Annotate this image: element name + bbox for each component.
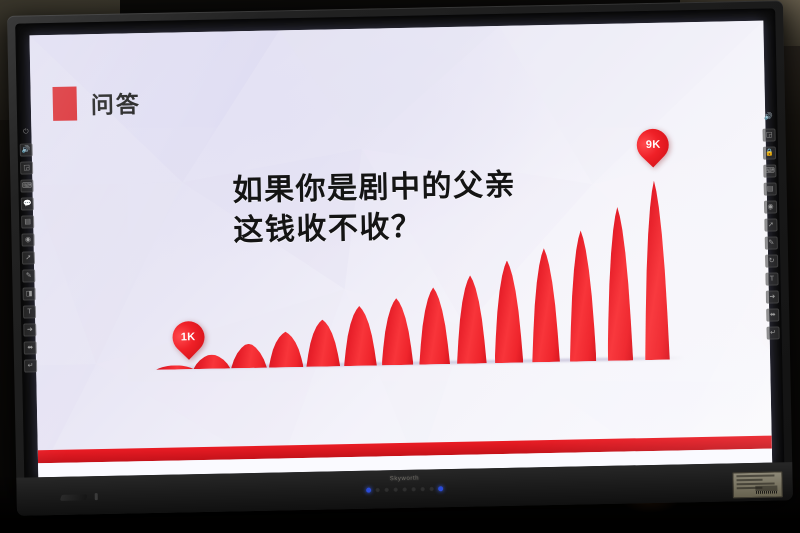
spike-chart: 1K9K [152, 175, 676, 370]
power-icon[interactable]: ⏻ [19, 125, 32, 138]
window-icon[interactable]: ▤ [21, 215, 34, 228]
refresh-icon[interactable]: ↻ [765, 254, 778, 267]
window-icon[interactable]: ▤ [764, 182, 777, 195]
chin-button[interactable] [393, 487, 398, 492]
chart-spike [268, 331, 304, 367]
chin-button[interactable] [411, 487, 416, 492]
interactive-display: 问答 如果你是剧中的父亲 这钱收不收？ 1K9K ⏻🔊◲⌨💬▤◉➚✎◨T➜⬌↵ … [7, 0, 793, 515]
eraser-icon[interactable]: ◨ [23, 287, 36, 300]
heading-accent-mark [52, 86, 77, 120]
chart-spike-body [493, 260, 524, 363]
chart-spike-body [567, 230, 596, 361]
pen-icon[interactable]: ✎ [22, 269, 35, 282]
power-led[interactable] [366, 488, 371, 493]
chart-spike-body [418, 287, 450, 364]
chart-spike [380, 298, 413, 365]
chart-spike [231, 344, 267, 369]
arrow-right-icon[interactable]: ➜ [766, 290, 779, 303]
volume-icon[interactable]: 🔊 [762, 110, 775, 123]
pointer-icon[interactable]: ➚ [22, 251, 35, 264]
display-screen[interactable]: 问答 如果你是剧中的父亲 这钱收不收？ 1K9K [29, 21, 772, 478]
label-blue-tag [736, 471, 746, 472]
chart-spike-body [305, 319, 340, 367]
chart-spike-body [343, 306, 377, 366]
keyboard-icon[interactable]: ⌨ [20, 179, 33, 192]
barcode [756, 485, 778, 493]
chart-spike [156, 365, 194, 370]
chart-spike-body [268, 331, 304, 367]
text-icon[interactable]: T [23, 305, 36, 318]
chart-pin-9k: 9K [637, 128, 670, 169]
text-icon[interactable]: T [765, 272, 778, 285]
volume-icon[interactable]: 🔊 [20, 143, 33, 156]
slide-heading: 问答 [52, 85, 141, 121]
indicator-dot [95, 493, 98, 500]
label-line [736, 475, 774, 478]
pin-label: 1K [172, 321, 205, 354]
power-led[interactable] [438, 486, 443, 491]
chart-spike-body [530, 248, 560, 362]
chart-spike [305, 319, 340, 367]
chat-icon[interactable]: 💬 [21, 197, 34, 210]
globe-icon[interactable]: ◉ [764, 200, 777, 213]
arrow-left-icon[interactable]: ⬌ [24, 341, 37, 354]
presentation-slide: 问答 如果你是剧中的父亲 这钱收不收？ 1K9K [29, 21, 772, 478]
lock-icon[interactable]: 🔒 [763, 146, 776, 159]
pen-icon[interactable]: ✎ [765, 236, 778, 249]
brand-logo: Skyworth [390, 476, 420, 483]
globe-icon[interactable]: ◉ [21, 233, 34, 246]
chin-button[interactable] [429, 486, 434, 491]
chart-spike [567, 230, 596, 361]
chart-spike-body [605, 207, 634, 361]
chart-spike [530, 248, 560, 362]
chart-spike [455, 275, 486, 364]
arrow-right-icon[interactable]: ➜ [23, 323, 36, 336]
chart-spike [493, 260, 524, 363]
chart-spike-body [455, 275, 486, 364]
camera-icon[interactable]: ◲ [20, 161, 33, 174]
chin-button[interactable] [420, 487, 425, 492]
pointer-icon[interactable]: ➚ [764, 218, 777, 231]
chin-button[interactable] [375, 487, 380, 492]
return-icon[interactable]: ↵ [766, 326, 779, 339]
heading-label: 问答 [90, 85, 141, 120]
chart-spike-body [642, 180, 670, 360]
camera-icon[interactable]: ◲ [762, 128, 775, 141]
product-spec-label [732, 471, 783, 498]
ir-sensor [60, 494, 88, 501]
pin-label: 9K [637, 128, 670, 161]
chart-spike [418, 287, 450, 364]
chart-spike-body [380, 298, 413, 365]
chin-button[interactable] [402, 487, 407, 492]
chart-spike-body [231, 344, 267, 369]
chart-spike-body [156, 365, 194, 370]
chin-button-row[interactable] [366, 486, 443, 493]
chart-spike [605, 207, 634, 361]
return-icon[interactable]: ↵ [24, 359, 37, 372]
label-line [737, 479, 763, 482]
chin-button[interactable] [384, 487, 389, 492]
keyboard-icon[interactable]: ⌨ [763, 164, 776, 177]
chart-pin-1k: 1K [172, 321, 205, 362]
chart-spike [642, 180, 670, 360]
chart-spike [343, 306, 377, 366]
arrow-left-icon[interactable]: ⬌ [766, 308, 779, 321]
